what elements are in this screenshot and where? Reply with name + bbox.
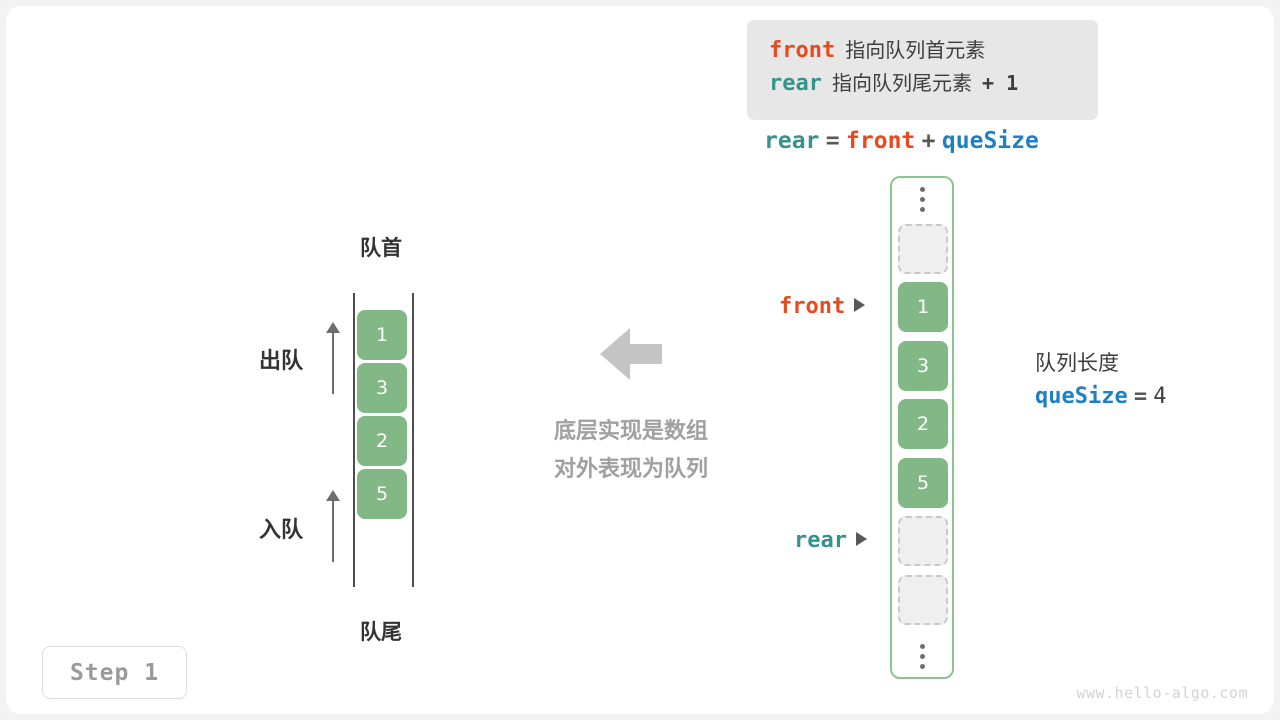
watermark: www.hello-algo.com [1076,684,1248,702]
array-cell-1: 1 [898,282,948,332]
array-container: 1 3 2 5 [890,176,954,679]
center-caption-line2: 对外表现为队列 [506,451,756,489]
queue-cell-0: 1 [357,310,407,360]
formula-plus: + [922,128,936,154]
rear-pointer-label: rear [794,528,847,553]
dequeue-label: 出队 [259,343,303,375]
quesize-label: 队列长度 [1035,347,1166,379]
formula-term-front: front [846,128,915,154]
array-cell-value: 2 [917,413,929,435]
dot [920,187,925,192]
queue-tail-label: 队尾 [312,616,450,646]
front-pointer: front [779,291,865,321]
formula-term-rear: rear [764,128,819,154]
arrow-right-icon [856,532,867,546]
dot [920,654,925,659]
note-keyword-rear: rear [769,71,822,96]
array-ellipsis-bottom [892,635,952,677]
quesize-value: 4 [1153,384,1166,409]
array-cell-4: 5 [898,458,948,508]
note-line-front: front指向队列首元素 [769,34,1080,67]
center-caption: 底层实现是数组 对外表现为队列 [506,413,756,489]
note-text-front: 指向队列首元素 [835,38,985,62]
queue-rail-right [412,293,414,587]
front-pointer-label: front [779,294,845,319]
queue-cell-value: 2 [376,430,388,452]
quesize-equals: = [1134,384,1147,409]
array-cell-value: 5 [917,472,929,494]
rear-pointer: rear [794,525,867,555]
queue-cell-1: 3 [357,363,407,413]
dequeue-arrow-up-icon [324,322,342,394]
arrow-shaft [332,331,334,394]
rear-formula: rear = front + queSize [764,124,1039,156]
queue-cell-2: 2 [357,416,407,466]
array-cell-5 [898,516,948,566]
formula-equals: = [826,128,840,154]
dot [920,644,925,649]
queue-cell-value: 3 [376,377,388,399]
arrow-head [600,328,630,380]
quesize-annotation: 队列长度 queSize = 4 [1035,347,1166,414]
note-line-rear: rear指向队列尾元素+ 1 [769,67,1080,100]
array-ellipsis-top [892,178,952,220]
queue-cell-value: 1 [376,324,388,346]
array-cell-value: 3 [917,355,929,377]
step-badge: Step 1 [42,646,187,699]
dot [920,197,925,202]
diagram-canvas: front指向队列首元素 rear指向队列尾元素+ 1 rear = front… [6,6,1274,714]
quesize-variable: queSize [1035,384,1128,409]
pointer-definition-note: front指向队列首元素 rear指向队列尾元素+ 1 [747,20,1098,120]
arrow-left-icon [600,328,662,380]
arrow-right-icon [854,298,865,312]
array-cell-0 [898,224,948,274]
queue-cell-3: 5 [357,469,407,519]
array-cell-6 [898,575,948,625]
dot [920,664,925,669]
enqueue-arrow-up-icon [324,490,342,562]
array-cell-3: 2 [898,399,948,449]
queue-cell-value: 5 [376,483,388,505]
queue-head-label: 队首 [312,232,450,262]
arrow-shaft [332,499,334,562]
quesize-value-row: queSize = 4 [1035,379,1166,414]
queue-rail-left [353,293,355,587]
formula-term-quesize: queSize [942,128,1039,154]
arrow-shaft [628,344,662,364]
note-keyword-front: front [769,38,835,63]
center-caption-line1: 底层实现是数组 [506,413,756,451]
note-text-rear: 指向队列尾元素 [822,71,972,95]
enqueue-label: 入队 [259,512,303,544]
note-suffix-rear: + 1 [972,71,1018,95]
dot [920,207,925,212]
array-cell-value: 1 [917,296,929,318]
array-cell-2: 3 [898,341,948,391]
